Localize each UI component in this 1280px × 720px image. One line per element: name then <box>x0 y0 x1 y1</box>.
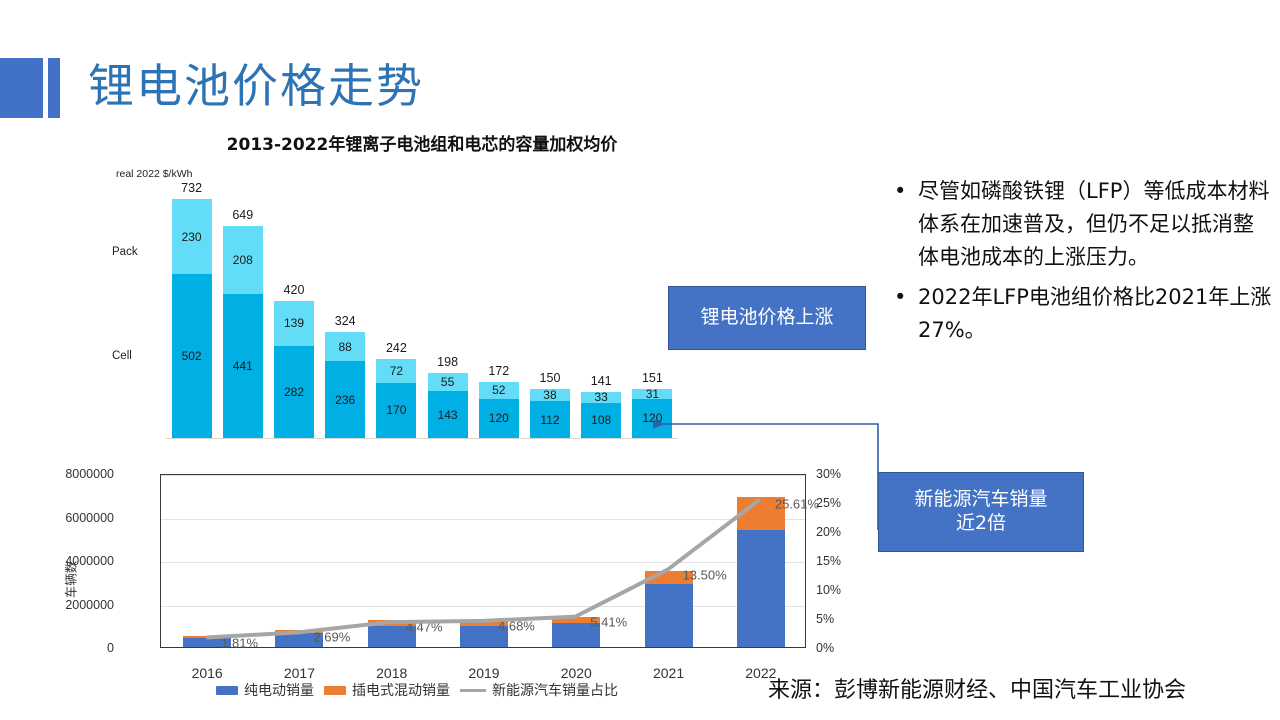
battery-price-pack-value: 38 <box>543 388 556 402</box>
battery-price-bar-group: 331081412021 <box>576 190 627 438</box>
battery-price-bar-group: 521201722019 <box>473 190 524 438</box>
nev-legend-label: 插电式混动销量 <box>352 680 450 700</box>
nev-x-tick-label: 2016 <box>192 665 223 681</box>
nev-legend-label: 纯电动销量 <box>244 680 314 700</box>
battery-price-pack-value: 72 <box>390 364 403 378</box>
slide-canvas: 锂电池价格走势 2013-2022年锂离子电池组和电芯的容量加权均价 real … <box>0 0 1280 720</box>
battery-price-series-label-cell: Cell <box>112 350 132 362</box>
battery-price-cell-value: 120 <box>489 411 509 425</box>
battery-price-stack: 33108 <box>581 392 621 438</box>
battery-price-stack: 52120 <box>479 382 519 438</box>
nev-legend: 纯电动销量插电式混动销量新能源汽车销量占比 <box>216 680 618 700</box>
nev-x-tick-label: 2017 <box>284 665 315 681</box>
battery-price-stack: 88236 <box>325 332 365 438</box>
nev-share-line-path <box>206 499 760 637</box>
page-title: 锂电池价格走势 <box>88 50 424 116</box>
nev-legend-item: 新能源汽车销量占比 <box>460 680 618 700</box>
nev-secondary-y-tick-label: 20% <box>816 525 876 539</box>
battery-price-bar-group: 381121502020 <box>524 190 575 438</box>
nev-x-tick-label: 2018 <box>376 665 407 681</box>
battery-price-segment-pack: 208 <box>223 226 263 294</box>
battery-price-bar-group: 721702422017 <box>371 190 422 438</box>
source-note: 来源：彭博新能源财经、中国汽车工业协会 <box>768 672 1186 704</box>
battery-price-bar-group: 2305027322013 <box>166 190 217 438</box>
nev-y-tick-label: 8000000 <box>0 467 114 481</box>
battery-price-series-label-pack: Pack <box>112 246 138 258</box>
battery-price-total-label: 198 <box>437 355 458 369</box>
callout-sales-text: 新能源汽车销量近2倍 <box>914 488 1047 536</box>
battery-price-segment-pack: 38 <box>530 389 570 401</box>
battery-price-cell-value: 170 <box>386 403 406 417</box>
battery-price-cell-value: 112 <box>540 413 559 427</box>
nev-share-line <box>160 474 806 648</box>
battery-price-segment-pack: 31 <box>632 389 672 399</box>
battery-price-segment-cell: 120 <box>479 399 519 438</box>
battery-price-segment-pack: 55 <box>428 373 468 391</box>
battery-price-segment-pack: 33 <box>581 392 621 403</box>
nev-x-tick-label: 2019 <box>468 665 499 681</box>
nev-y-tick-label: 6000000 <box>0 511 114 525</box>
battery-price-segment-cell: 108 <box>581 403 621 438</box>
battery-price-bar-group: 551431982018 <box>422 190 473 438</box>
battery-price-segment-cell: 143 <box>428 391 468 438</box>
battery-price-stack: 55143 <box>428 373 468 438</box>
battery-price-bar-group: 1392824202015 <box>268 190 319 438</box>
battery-price-pack-value: 139 <box>284 316 304 330</box>
nev-legend-swatch <box>324 686 346 695</box>
battery-price-cell-value: 236 <box>335 393 355 407</box>
battery-price-segment-cell: 441 <box>223 294 263 438</box>
battery-price-segment-pack: 52 <box>479 382 519 399</box>
nev-x-tick-label: 2020 <box>561 665 592 681</box>
battery-price-cell-value: 282 <box>284 385 304 399</box>
battery-price-total-label: 420 <box>284 283 305 297</box>
battery-price-total-label: 172 <box>488 364 509 378</box>
battery-price-pack-value: 208 <box>233 253 253 267</box>
battery-price-pack-value: 52 <box>492 383 505 397</box>
nev-secondary-y-tick-label: 5% <box>816 612 876 626</box>
nev-legend-item: 纯电动销量 <box>216 680 314 700</box>
battery-price-cell-value: 120 <box>642 411 662 425</box>
battery-price-cell-value: 108 <box>591 413 611 427</box>
battery-price-total-label: 150 <box>540 371 561 385</box>
nev-legend-swatch <box>460 689 486 692</box>
battery-price-segment-cell: 120 <box>632 399 672 438</box>
bullet-text: 2022年LFP电池组价格比2021年上涨27%。 <box>918 285 1271 342</box>
nev-secondary-y-tick-label: 15% <box>816 554 876 568</box>
battery-price-segment-cell: 282 <box>274 346 314 438</box>
battery-price-total-label: 151 <box>642 371 663 385</box>
battery-price-baseline <box>166 438 678 439</box>
battery-price-cell-value: 441 <box>233 359 253 373</box>
nev-y-tick-label: 0 <box>0 641 114 655</box>
battery-price-segment-pack: 88 <box>325 332 365 361</box>
nev-secondary-y-tick-label: 0% <box>816 641 876 655</box>
battery-price-pack-value: 55 <box>441 375 454 389</box>
battery-price-stack: 38112 <box>530 389 570 438</box>
nev-y-tick-label: 2000000 <box>0 598 114 612</box>
battery-price-chart-title: 2013-2022年锂离子电池组和电芯的容量加权均价 <box>172 130 672 155</box>
nev-legend-swatch <box>216 686 238 695</box>
battery-price-stack: 72170 <box>376 359 416 438</box>
battery-price-total-label: 732 <box>181 181 202 195</box>
battery-price-segment-cell: 236 <box>325 361 365 438</box>
battery-price-bar-group: 882363242016 <box>320 190 371 438</box>
callout-price-rise[interactable]: 锂电池价格上涨 <box>668 286 866 350</box>
battery-price-segment-cell: 170 <box>376 383 416 438</box>
battery-price-segment-cell: 502 <box>172 274 212 438</box>
callout-sales-near-double[interactable]: 新能源汽车销量近2倍 <box>878 472 1084 552</box>
battery-price-stack: 230502 <box>172 199 212 438</box>
nev-legend-item: 插电式混动销量 <box>324 680 450 700</box>
battery-price-total-label: 141 <box>591 374 612 388</box>
battery-price-plot-area: 2305027322013208441649201413928242020158… <box>166 190 678 438</box>
battery-price-cell-value: 143 <box>438 408 458 422</box>
nev-secondary-y-tick-label: 10% <box>816 583 876 597</box>
nev-legend-label: 新能源汽车销量占比 <box>492 680 618 700</box>
battery-price-segment-cell: 112 <box>530 401 570 438</box>
nev-y-tick-label: 4000000 <box>0 554 114 568</box>
battery-price-segment-pack: 139 <box>274 301 314 346</box>
battery-price-segment-pack: 72 <box>376 359 416 382</box>
bullet-marker-icon: • <box>894 175 906 208</box>
battery-price-pack-value: 230 <box>182 230 202 244</box>
bullet-item: •尽管如磷酸铁锂（LFP）等低成本材料体系在加速普及，但仍不足以抵消整体电池成本… <box>884 175 1272 275</box>
battery-price-chart: 2013-2022年锂离子电池组和电芯的容量加权均价 real 2022 $/k… <box>112 128 682 468</box>
nev-secondary-y-tick-label: 25% <box>816 496 876 510</box>
bullet-list: •尽管如磷酸铁锂（LFP）等低成本材料体系在加速普及，但仍不足以抵消整体电池成本… <box>884 175 1272 353</box>
battery-price-cell-value: 502 <box>182 349 202 363</box>
battery-price-segment-pack: 230 <box>172 199 212 274</box>
nev-x-tick-label: 2021 <box>653 665 684 681</box>
battery-price-pack-value: 88 <box>339 340 352 354</box>
bullet-item: •2022年LFP电池组价格比2021年上涨27%。 <box>884 281 1272 347</box>
title-accent-bar-narrow <box>48 58 60 118</box>
battery-price-stack: 139282 <box>274 301 314 438</box>
bullet-marker-icon: • <box>894 281 906 314</box>
nev-sales-chart: 车辆数 20161.81%20172.69%20184.47%20194.68%… <box>44 466 884 706</box>
battery-price-total-label: 649 <box>232 208 253 222</box>
battery-price-stack: 31120 <box>632 389 672 438</box>
battery-price-bar-group: 2084416492014 <box>217 190 268 438</box>
battery-price-total-label: 242 <box>386 341 407 355</box>
title-accent-bar-wide <box>0 58 43 118</box>
bullet-text: 尽管如磷酸铁锂（LFP）等低成本材料体系在加速普及，但仍不足以抵消整体电池成本的… <box>918 179 1269 269</box>
battery-price-stack: 208441 <box>223 226 263 438</box>
battery-price-total-label: 324 <box>335 314 356 328</box>
battery-price-unit-label: real 2022 $/kWh <box>116 168 192 180</box>
nev-secondary-y-tick-label: 30% <box>816 467 876 481</box>
